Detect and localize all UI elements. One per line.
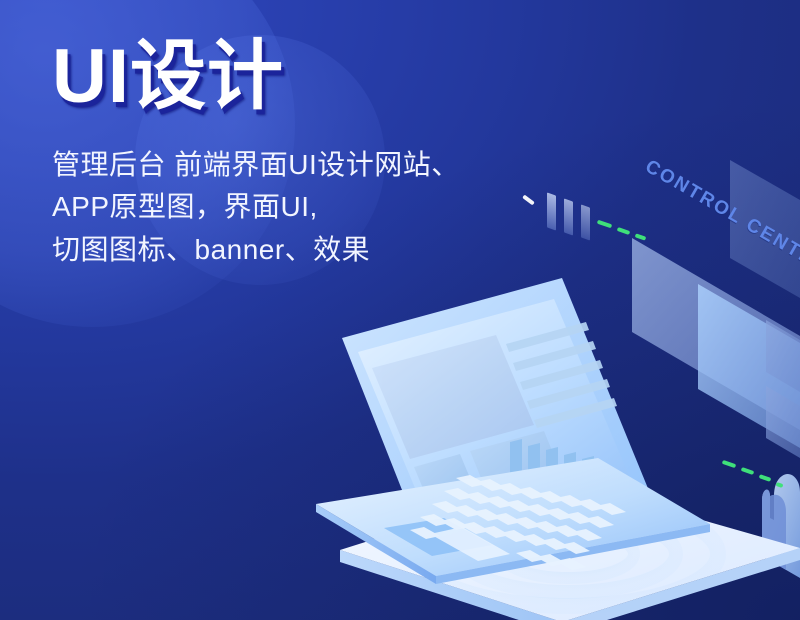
decorative-dashes-bottom [722,462,794,502]
subtitle-line-3: 切图图标、banner、效果 [52,229,672,272]
subtitle-line-1: 管理后台 前端界面UI设计网站、 [52,144,672,187]
dash [722,460,737,468]
subtitle-line-2: APP原型图，界面UI, [52,186,672,229]
dash [759,474,772,482]
page-title: UI设计 [52,38,672,116]
ui-design-banner: CONTROL CENTER [0,0,800,620]
copy-block: UI设计 管理后台 前端界面UI设计网站、 APP原型图，界面UI, 切图图标、… [52,38,672,271]
laptop-illustration [310,292,780,612]
subtitle-block: 管理后台 前端界面UI设计网站、 APP原型图，界面UI, 切图图标、banne… [52,144,672,272]
dash [741,467,755,475]
dash [776,482,784,488]
